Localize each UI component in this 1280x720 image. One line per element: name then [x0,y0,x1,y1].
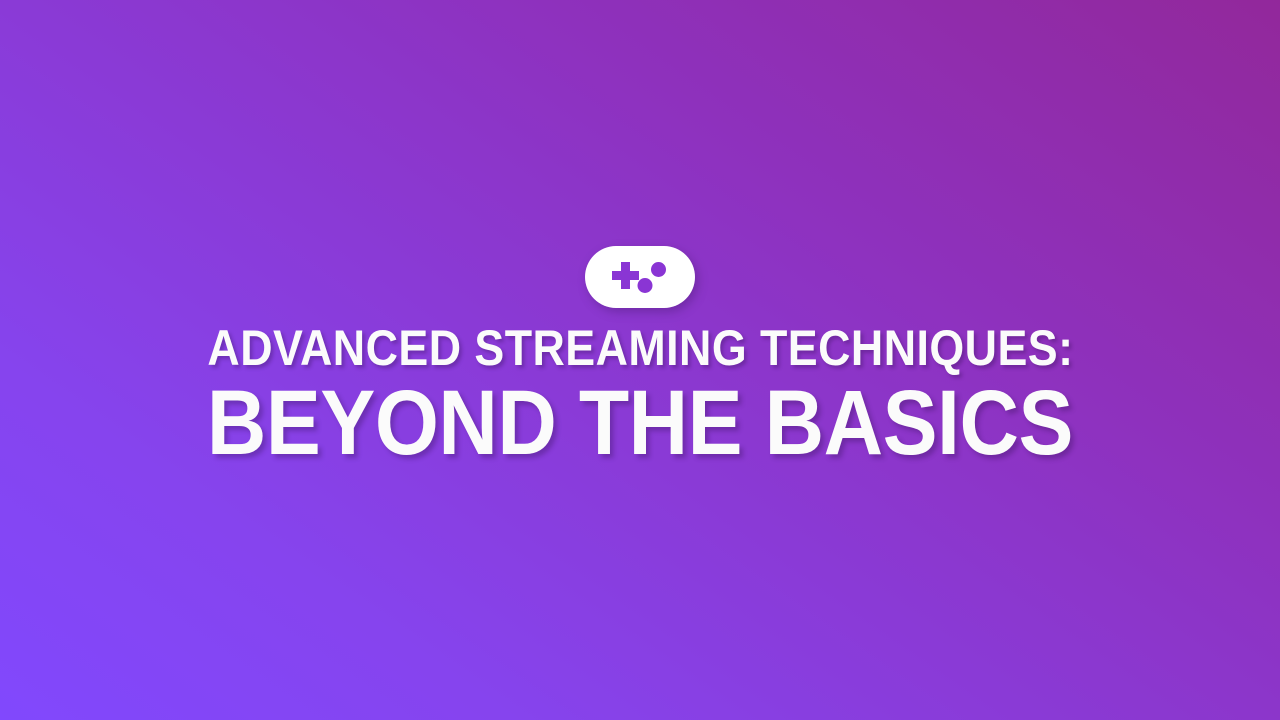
title-slide: ADVANCED STREAMING TECHNIQUES: BEYOND TH… [0,0,1280,720]
page-title: ADVANCED STREAMING TECHNIQUES: BEYOND TH… [156,322,1124,469]
gamepad-icon [585,246,695,308]
slide-content: ADVANCED STREAMING TECHNIQUES: BEYOND TH… [0,246,1280,469]
title-line-2: BEYOND THE BASICS [207,377,1073,469]
title-line-1: ADVANCED STREAMING TECHNIQUES: [207,322,1073,375]
